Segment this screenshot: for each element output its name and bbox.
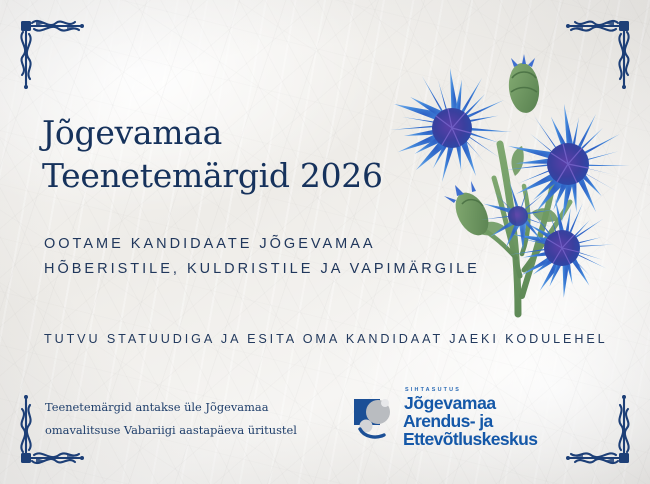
- poster-canvas: Jõgevamaa Teenetemärgid 2026 OOTAME KAND…: [0, 0, 650, 484]
- logo-line-2: Arendus- ja Ettevõtluskeskus: [403, 413, 602, 448]
- call-to-action-text: TUTVU STATUUDIGA JA ESITA OMA KANDIDAAT …: [44, 332, 624, 346]
- footnote: Teenetemärgid antakse üle Jõgevamaa omav…: [45, 396, 325, 442]
- title-line-2: Teenetemärgid 2026: [42, 155, 442, 198]
- jaek-logo-mark-icon: [352, 395, 398, 441]
- footnote-line-1: Teenetemärgid antakse üle Jõgevamaa: [45, 396, 325, 419]
- subtitle: OOTAME KANDIDAATE JÕGEVAMAA HÕBERISTILE,…: [44, 232, 564, 283]
- subtitle-line-1: OOTAME KANDIDAATE JÕGEVAMAA: [44, 232, 564, 257]
- title-line-1: Jõgevamaa: [42, 112, 442, 155]
- logo-line-1: Jõgevamaa: [404, 395, 602, 413]
- jaek-logo: SIHTASUTUS Jõgevamaa Arendus- ja Ettevõt…: [352, 392, 602, 444]
- footnote-line-2: omavalitsuse Vabariigi aastapäeva üritus…: [45, 419, 325, 442]
- page-title: Jõgevamaa Teenetemärgid 2026: [42, 112, 442, 198]
- corner-ornament-top-left-icon: [12, 10, 90, 92]
- subtitle-line-2: HÕBERISTILE, KULDRISTILE JA VAPIMÄRGILE: [44, 257, 564, 282]
- jaek-logo-text: SIHTASUTUS Jõgevamaa Arendus- ja Ettevõt…: [403, 388, 602, 449]
